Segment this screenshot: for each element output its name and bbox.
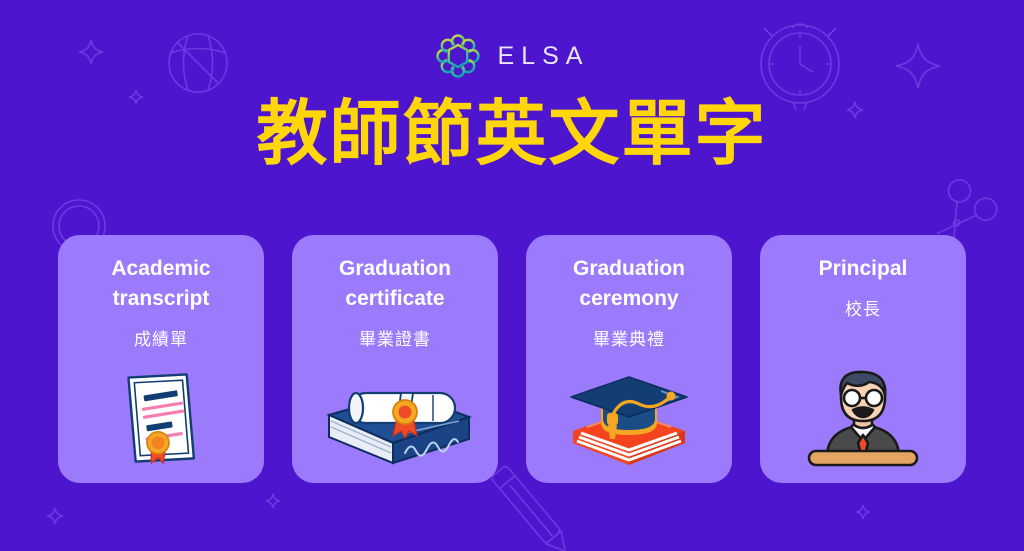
card-english-term: Principal [760, 254, 966, 284]
small-sparkle-icon [856, 505, 870, 519]
card-english-term: Academic transcript [58, 254, 264, 314]
small-sparkle-icon [47, 508, 63, 524]
small-sparkle-icon [266, 494, 280, 508]
diploma-scroll-on-book-icon [292, 359, 498, 471]
graduation-cap-on-book-icon [526, 359, 732, 471]
principal-at-podium-icon [760, 359, 966, 471]
vocab-card-graduation-ceremony[interactable]: Graduation ceremony 畢業典禮 [526, 235, 732, 483]
vocab-card-graduation-certificate[interactable]: Graduation certificate 畢業證書 [292, 235, 498, 483]
card-english-term: Graduation ceremony [526, 254, 732, 314]
card-english-term: Graduation certificate [292, 254, 498, 314]
brand-wordmark: ELSA [495, 44, 590, 69]
vocabulary-card-row: Academic transcript 成績單 [58, 235, 966, 483]
brand-header: ELSA [0, 30, 1024, 82]
card-chinese-term: 成績單 [58, 325, 264, 350]
card-chinese-term: 畢業典禮 [526, 325, 732, 350]
vocab-card-academic-transcript[interactable]: Academic transcript 成績單 [58, 235, 264, 483]
vocab-card-principal[interactable]: Principal 校長 [760, 235, 966, 483]
elsa-flower-logo-icon [435, 33, 481, 79]
poster-canvas: ELSA 教師節英文單字 Academic transcript 成績單 [0, 0, 1024, 551]
transcript-document-icon [58, 359, 264, 471]
card-chinese-term: 畢業證書 [292, 325, 498, 350]
page-title: 教師節英文單字 [0, 99, 1024, 170]
card-chinese-term: 校長 [760, 295, 966, 320]
